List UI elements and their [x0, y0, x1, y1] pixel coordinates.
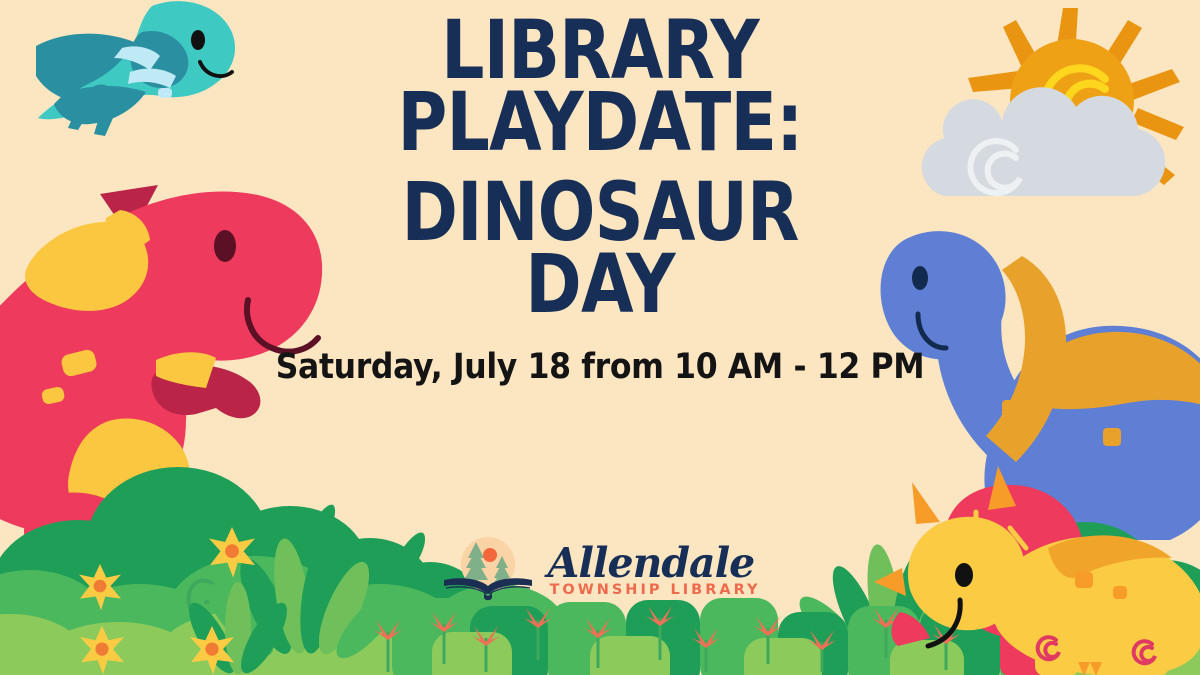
logo-mark-icon: [440, 534, 536, 606]
headline-block: LIBRARY PLAYDATE: DINOSAUR DAY Saturday,…: [0, 14, 1200, 387]
logo-text-group: Allendale TOWNSHIP LIBRARY: [546, 543, 761, 598]
poster-canvas: LIBRARY PLAYDATE: DINOSAUR DAY Saturday,…: [0, 0, 1200, 675]
logo-wordmark: Allendale: [546, 543, 755, 584]
headline-line-4: DAY: [96, 248, 1104, 323]
library-logo: Allendale TOWNSHIP LIBRARY: [0, 534, 1200, 606]
event-date-time: Saturday, July 18 from 10 AM - 12 PM: [60, 347, 1140, 387]
logo-subtitle: TOWNSHIP LIBRARY: [550, 582, 761, 598]
headline-line-2: PLAYDATE:: [96, 86, 1104, 161]
